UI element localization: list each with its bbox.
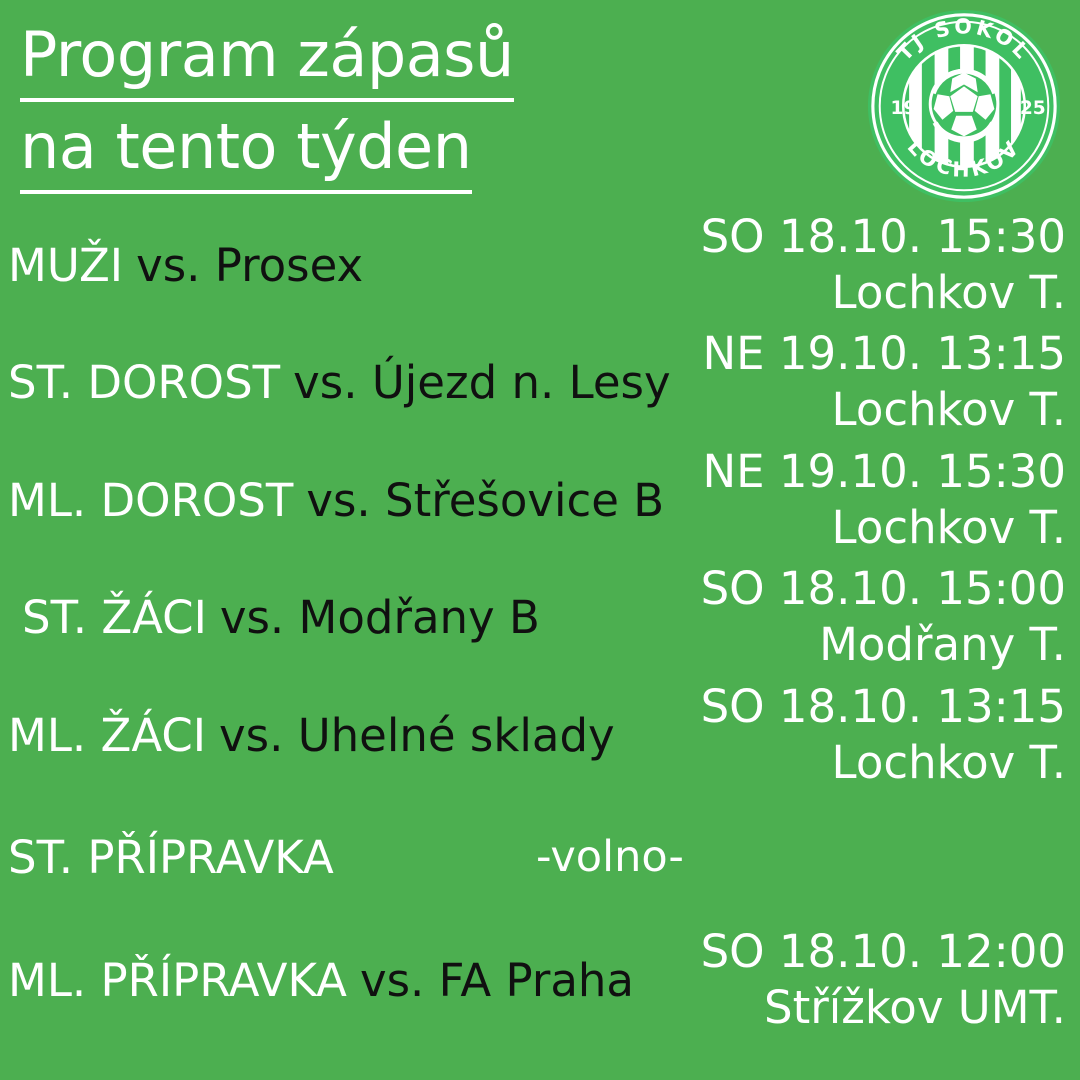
fixture-row: ST. PŘÍPRAVKA-volno- bbox=[0, 797, 1080, 917]
page-title-line-1: Program zápasů bbox=[20, 14, 514, 102]
soccer-ball-icon bbox=[929, 69, 1000, 143]
fixture-opponent: vs. Újezd n. Lesy bbox=[293, 356, 670, 409]
fixture-venue: Lochkov T. bbox=[832, 500, 1066, 556]
fixture-datetime: SO 18.10. 13:15 bbox=[701, 679, 1066, 735]
fixture-team-name: ST. DOROST bbox=[8, 356, 280, 409]
fixture-row: ML. ŽÁCIvs. Uhelné skladySO 18.10. 13:15… bbox=[0, 675, 1080, 795]
fixture-venue: Lochkov T. bbox=[832, 382, 1066, 438]
fixture-row: MUŽIvs. ProsexSO 18.10. 15:30Lochkov T. bbox=[0, 205, 1080, 325]
fixture-opponent: vs. Střešovice B bbox=[306, 474, 664, 527]
fixture-match: ML. DOROSTvs. Střešovice B bbox=[8, 440, 664, 560]
fixture-datetime: NE 19.10. 15:30 bbox=[702, 444, 1066, 500]
fixture-row: ML. PŘÍPRAVKAvs. FA PrahaSO 18.10. 12:00… bbox=[0, 920, 1080, 1040]
badge-year-left: 19 bbox=[891, 98, 917, 119]
fixture-opponent: vs. Modřany B bbox=[220, 591, 540, 644]
fixture-schedule: SO 18.10. 12:00Střížkov UMT. bbox=[701, 920, 1066, 1040]
fixture-row: ST. DOROSTvs. Újezd n. LesyNE 19.10. 13:… bbox=[0, 322, 1080, 442]
fixture-venue: Střížkov UMT. bbox=[764, 980, 1066, 1036]
fixture-team-name: ML. DOROST bbox=[8, 474, 293, 527]
fixture-row: ST. ŽÁCIvs. Modřany BSO 18.10. 15:00Modř… bbox=[0, 557, 1080, 677]
fixture-team-name: ML. ŽÁCI bbox=[8, 709, 206, 762]
fixture-schedule: SO 18.10. 15:30Lochkov T. bbox=[701, 205, 1066, 325]
club-badge-svg: TJ SOKOL LOCHKOV 19 25 bbox=[866, 8, 1062, 204]
page-title-line-2: na tento týden bbox=[20, 106, 472, 194]
fixture-team-name: ML. PŘÍPRAVKA bbox=[8, 954, 347, 1007]
fixture-match: ST. DOROSTvs. Újezd n. Lesy bbox=[8, 322, 671, 442]
fixture-opponent: vs. FA Praha bbox=[360, 954, 634, 1007]
fixture-schedule: NE 19.10. 13:15Lochkov T. bbox=[702, 322, 1066, 442]
fixture-datetime: SO 18.10. 12:00 bbox=[701, 924, 1066, 980]
fixture-match: MUŽIvs. Prosex bbox=[8, 205, 363, 325]
fixture-team-name: ST. ŽÁCI bbox=[22, 591, 207, 644]
club-badge: TJ SOKOL LOCHKOV 19 25 bbox=[866, 8, 1062, 204]
fixture-datetime: SO 18.10. 15:30 bbox=[701, 209, 1066, 265]
fixture-match: ML. PŘÍPRAVKAvs. FA Praha bbox=[8, 920, 634, 1040]
fixture-schedule: NE 19.10. 15:30Lochkov T. bbox=[702, 440, 1066, 560]
fixture-row: ML. DOROSTvs. Střešovice BNE 19.10. 15:3… bbox=[0, 440, 1080, 560]
fixture-venue: Lochkov T. bbox=[832, 735, 1066, 791]
fixture-match: ST. PŘÍPRAVKA bbox=[8, 797, 334, 917]
fixture-match: ST. ŽÁCIvs. Modřany B bbox=[22, 557, 540, 677]
fixture-venue: Modřany T. bbox=[819, 617, 1066, 673]
fixture-datetime: NE 19.10. 13:15 bbox=[702, 326, 1066, 382]
page-header: Program zápasů na tento týden bbox=[0, 0, 1080, 200]
page-title: Program zápasů na tento týden bbox=[20, 14, 660, 198]
fixture-team-name: ST. PŘÍPRAVKA bbox=[8, 831, 334, 884]
fixture-venue: Lochkov T. bbox=[832, 265, 1066, 321]
fixture-schedule: SO 18.10. 15:00Modřany T. bbox=[701, 557, 1066, 677]
fixture-free-label: -volno- bbox=[536, 797, 684, 917]
fixture-datetime: SO 18.10. 15:00 bbox=[701, 561, 1066, 617]
badge-year-right: 25 bbox=[1020, 98, 1046, 119]
fixture-team-name: MUŽI bbox=[8, 239, 123, 292]
fixture-list: MUŽIvs. ProsexSO 18.10. 15:30Lochkov T.S… bbox=[0, 200, 1080, 1080]
fixture-schedule: SO 18.10. 13:15Lochkov T. bbox=[701, 675, 1066, 795]
fixture-opponent: vs. Prosex bbox=[136, 239, 363, 292]
fixture-opponent: vs. Uhelné sklady bbox=[219, 709, 615, 762]
fixture-match: ML. ŽÁCIvs. Uhelné sklady bbox=[8, 675, 615, 795]
